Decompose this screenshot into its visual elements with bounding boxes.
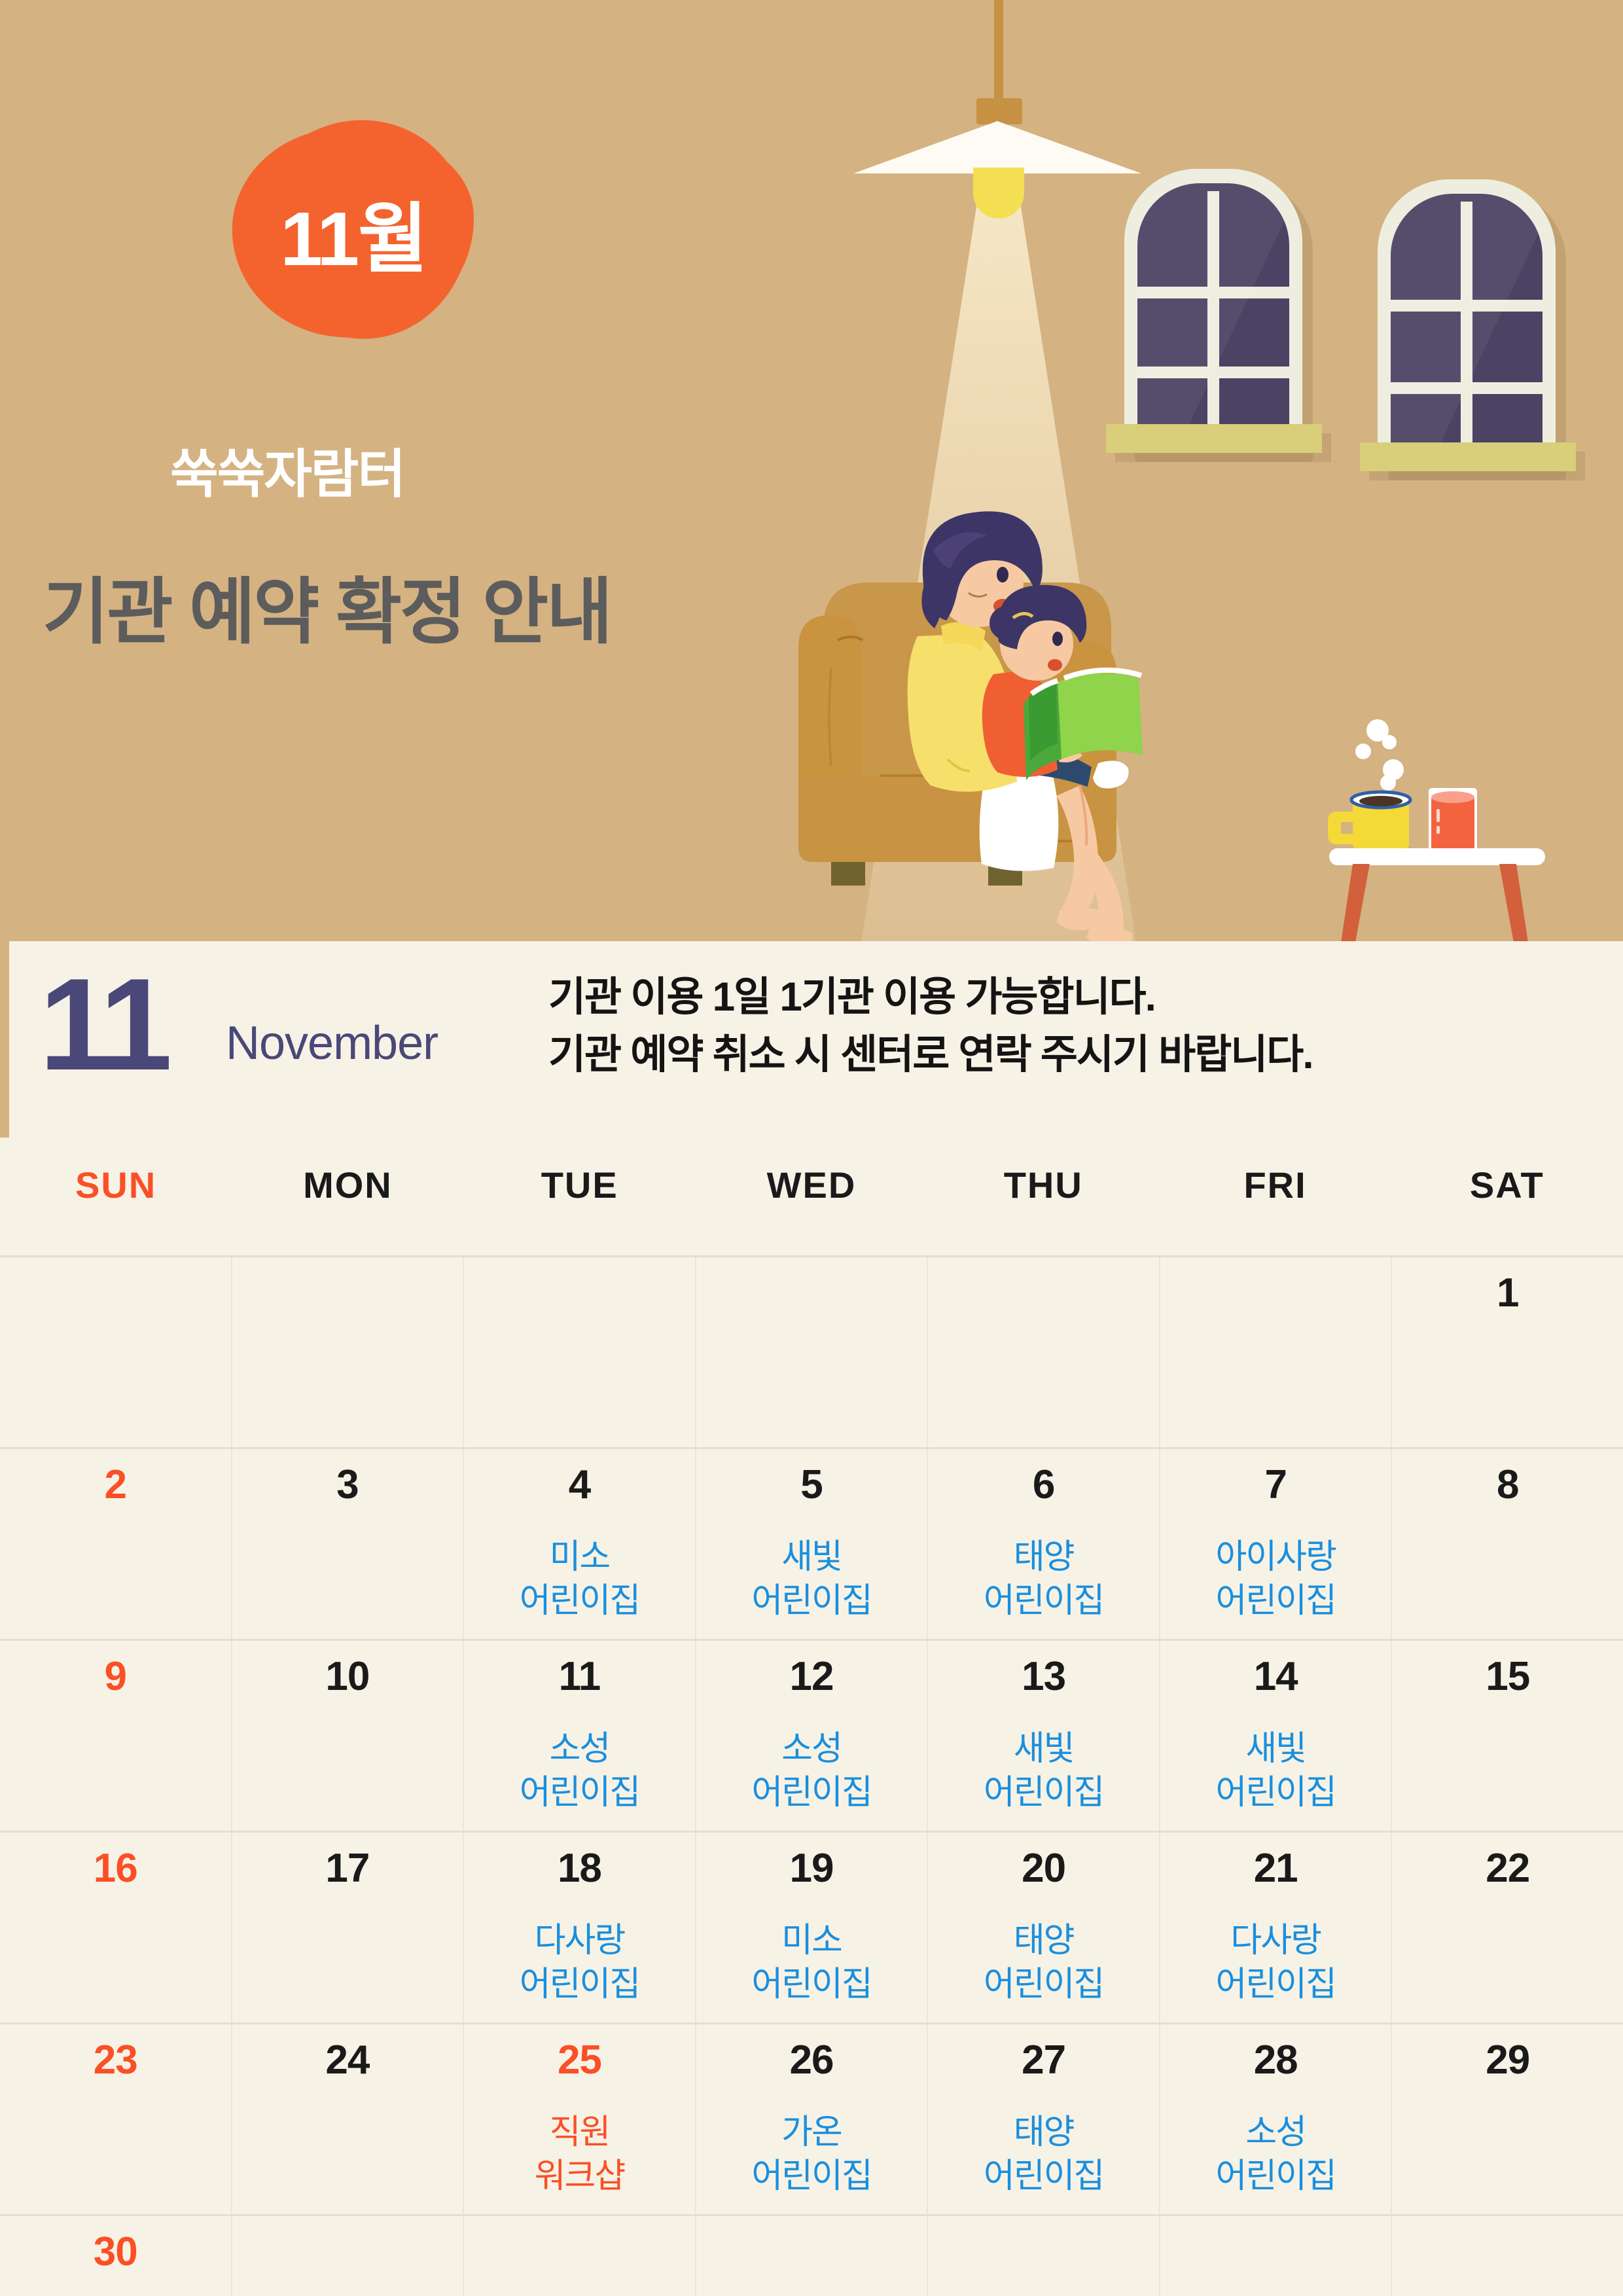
calendar-day-cell[interactable]: 17 [231, 1833, 463, 2022]
event-line: 새빛 [696, 1535, 927, 1579]
event-line: 아이사랑 [1160, 1535, 1391, 1579]
event-line: 소성 [464, 1727, 695, 1771]
event-line: 다사랑 [1160, 1919, 1391, 1963]
day-number: 27 [928, 2040, 1159, 2081]
calendar-day-cell[interactable]: 30 [0, 2216, 231, 2296]
event-line: 다사랑 [464, 1919, 695, 1963]
event-line: 어린이집 [696, 1963, 927, 2007]
window-left-sill [1106, 424, 1322, 453]
day-event-label: 소성어린이집 [696, 1727, 927, 1814]
calendar-day-cell[interactable]: 12소성어린이집 [695, 1641, 927, 1831]
calendar-day-cell[interactable]: 20태양어린이집 [927, 1833, 1159, 2022]
event-line: 어린이집 [696, 2155, 927, 2198]
calendar-empty-cell [927, 2216, 1159, 2296]
event-line: 미소 [464, 1535, 695, 1579]
event-line: 어린이집 [464, 1771, 695, 1815]
day-number: 21 [1160, 1848, 1391, 1889]
day-event-label: 새빛어린이집 [696, 1535, 927, 1623]
day-event-label: 미소어린이집 [464, 1535, 695, 1623]
event-line: 어린이집 [1160, 2155, 1391, 2198]
day-number: 24 [232, 2040, 463, 2081]
side-table-with-drinks-illustration [1293, 713, 1574, 941]
day-event-label: 소성어린이집 [464, 1727, 695, 1814]
day-number: 17 [232, 1848, 463, 1889]
lamp-cord-icon [994, 0, 1003, 105]
brand-name: 쑥쑥자람터 [170, 432, 628, 508]
page-title: 기관 예약 확정 안내 [43, 553, 828, 658]
calendar-day-cell[interactable]: 14새빛어린이집 [1159, 1641, 1391, 1831]
day-number: 12 [696, 1657, 927, 1697]
calendar-empty-cell [1159, 2216, 1391, 2296]
calendar-week-row: 91011소성어린이집12소성어린이집13새빛어린이집14새빛어린이집15 [0, 1639, 1623, 1831]
event-line: 어린이집 [928, 2155, 1159, 2198]
lamp-cap-icon [976, 98, 1022, 124]
calendar-day-cell[interactable]: 8 [1391, 1449, 1623, 1639]
event-line: 미소 [696, 1919, 927, 1963]
month-name-english: November [226, 1016, 438, 1070]
calendar-week-row: 30 [0, 2214, 1623, 2296]
calendar-day-cell[interactable]: 2 [0, 1449, 231, 1639]
day-number: 30 [0, 2232, 231, 2272]
day-number: 16 [0, 1848, 231, 1889]
event-line: 새빛 [928, 1727, 1159, 1771]
calendar-day-cell[interactable]: 29 [1391, 2024, 1623, 2214]
event-line: 어린이집 [696, 1771, 927, 1815]
weekday-tue: TUE [464, 1164, 696, 1249]
event-line: 어린이집 [928, 1771, 1159, 1815]
day-number: 7 [1160, 1465, 1391, 1505]
calendar-empty-cell [927, 1257, 1159, 1447]
day-number: 8 [1392, 1465, 1623, 1505]
day-event-label: 태양어린이집 [928, 1919, 1159, 2006]
calendar-day-cell[interactable]: 26가온어린이집 [695, 2024, 927, 2214]
day-number: 3 [232, 1465, 463, 1505]
event-line: 태양 [928, 2111, 1159, 2155]
day-number: 15 [1392, 1657, 1623, 1697]
calendar-empty-cell [231, 2216, 463, 2296]
day-event-label: 태양어린이집 [928, 2111, 1159, 2198]
window-right-icon [1378, 179, 1556, 470]
calendar-day-cell[interactable]: 28소성어린이집 [1159, 2024, 1391, 2214]
calendar-day-cell[interactable]: 24 [231, 2024, 463, 2214]
calendar-day-cell[interactable]: 19미소어린이집 [695, 1833, 927, 2022]
calendar-section: 11 November 기관 이용 1일 1기관 이용 가능합니다. 기관 예약… [0, 941, 1623, 2296]
weekday-wed: WED [696, 1164, 927, 1249]
mother-and-child-reading-illustration [772, 478, 1270, 941]
calendar-day-cell[interactable]: 13새빛어린이집 [927, 1641, 1159, 1831]
calendar-day-cell[interactable]: 7아이사랑어린이집 [1159, 1449, 1391, 1639]
calendar-day-cell[interactable]: 10 [231, 1641, 463, 1831]
day-event-label: 가온어린이집 [696, 2111, 927, 2198]
day-number: 1 [1392, 1273, 1623, 1314]
weekday-sat: SAT [1391, 1164, 1623, 1249]
day-number: 6 [928, 1465, 1159, 1505]
event-line: 어린이집 [1160, 1963, 1391, 2007]
day-number: 2 [0, 1465, 231, 1505]
event-line: 태양 [928, 1535, 1159, 1579]
calendar-empty-cell [231, 1257, 463, 1447]
day-event-label: 새빛어린이집 [1160, 1727, 1391, 1814]
calendar-day-cell[interactable]: 4미소어린이집 [463, 1449, 695, 1639]
weekday-sun: SUN [0, 1164, 232, 1249]
calendar-grid: 1234미소어린이집5새빛어린이집6태양어린이집7아이사랑어린이집891011소… [0, 1255, 1623, 2296]
event-line: 어린이집 [928, 1963, 1159, 2007]
poster-page: 11월 쑥쑥자람터 기관 예약 확정 안내 11 November 기관 이용 … [0, 0, 1623, 2296]
calendar-day-cell[interactable]: 11소성어린이집 [463, 1641, 695, 1831]
lamp-bulb-icon [973, 168, 1024, 219]
day-event-label: 미소어린이집 [696, 1919, 927, 2006]
event-line: 워크샵 [464, 2155, 695, 2198]
event-line: 직원 [464, 2111, 695, 2155]
calendar-day-cell[interactable]: 9 [0, 1641, 231, 1831]
event-line: 태양 [928, 1919, 1159, 1963]
day-number: 14 [1160, 1657, 1391, 1697]
day-event-label: 다사랑어린이집 [464, 1919, 695, 2006]
day-number: 19 [696, 1848, 927, 1889]
event-line: 새빛 [1160, 1727, 1391, 1771]
day-number: 10 [232, 1657, 463, 1697]
day-number: 11 [464, 1657, 695, 1697]
day-event-label: 아이사랑어린이집 [1160, 1535, 1391, 1623]
calendar-week-row: 232425직원워크샵26가온어린이집27태양어린이집28소성어린이집29 [0, 2022, 1623, 2214]
calendar-day-cell[interactable]: 27태양어린이집 [927, 2024, 1159, 2214]
calendar-empty-cell [695, 2216, 927, 2296]
calendar-day-cell[interactable]: 18다사랑어린이집 [463, 1833, 695, 2022]
calendar-empty-cell [0, 1257, 231, 1447]
event-line: 어린이집 [1160, 1579, 1391, 1623]
weekday-mon: MON [232, 1164, 463, 1249]
day-event-label: 다사랑어린이집 [1160, 1919, 1391, 2006]
event-line: 어린이집 [928, 1579, 1159, 1623]
day-event-label: 새빛어린이집 [928, 1727, 1159, 1814]
calendar-day-cell[interactable]: 25직원워크샵 [463, 2024, 695, 2214]
calendar-day-cell[interactable]: 1 [1391, 1257, 1623, 1447]
calendar-day-cell[interactable]: 15 [1391, 1641, 1623, 1831]
day-number: 18 [464, 1848, 695, 1889]
window-right-sill [1360, 442, 1576, 471]
event-line: 가온 [696, 2111, 927, 2155]
hero-banner: 11월 쑥쑥자람터 기관 예약 확정 안내 [0, 0, 1623, 941]
calendar-day-cell[interactable]: 23 [0, 2024, 231, 2214]
day-number: 28 [1160, 2040, 1391, 2081]
event-line: 어린이집 [464, 1579, 695, 1623]
calendar-empty-cell [463, 2216, 695, 2296]
day-number: 9 [0, 1657, 231, 1697]
day-number: 13 [928, 1657, 1159, 1697]
day-event-label: 직원워크샵 [464, 2111, 695, 2198]
calendar-week-row: 1 [0, 1255, 1623, 1447]
day-event-label: 태양어린이집 [928, 1535, 1159, 1623]
weekday-header-row: SUN MON TUE WED THU FRI SAT [0, 1164, 1623, 1249]
notice-line-2: 기관 예약 취소 시 센터로 연락 주시기 바랍니다. [548, 1026, 1569, 1084]
calendar-day-cell[interactable]: 6태양어린이집 [927, 1449, 1159, 1639]
calendar-empty-cell [1391, 2216, 1623, 2296]
event-line: 소성 [696, 1727, 927, 1771]
day-number: 5 [696, 1465, 927, 1505]
day-number: 22 [1392, 1848, 1623, 1889]
lamp-shade-icon [853, 121, 1141, 173]
event-line: 어린이집 [1160, 1771, 1391, 1815]
event-line: 어린이집 [696, 1579, 927, 1623]
day-number: 20 [928, 1848, 1159, 1889]
calendar-day-cell[interactable]: 5새빛어린이집 [695, 1449, 927, 1639]
weekday-fri: FRI [1159, 1164, 1391, 1249]
calendar-week-row: 234미소어린이집5새빛어린이집6태양어린이집7아이사랑어린이집8 [0, 1447, 1623, 1639]
month-badge: 11월 [232, 128, 474, 337]
day-event-label: 소성어린이집 [1160, 2111, 1391, 2198]
month-badge-label: 11월 [232, 128, 474, 337]
notice-block: 기관 이용 1일 1기관 이용 가능합니다. 기관 예약 취소 시 센터로 연락… [548, 969, 1569, 1084]
event-line: 소성 [1160, 2111, 1391, 2155]
event-line: 어린이집 [464, 1963, 695, 2007]
window-left-icon [1124, 169, 1302, 452]
weekday-thu: THU [927, 1164, 1159, 1249]
month-number: 11 [39, 960, 167, 1090]
notice-line-1: 기관 이용 1일 1기관 이용 가능합니다. [548, 969, 1569, 1026]
calendar-empty-cell [463, 1257, 695, 1447]
day-number: 25 [464, 2040, 695, 2081]
day-number: 23 [0, 2040, 231, 2081]
calendar-empty-cell [695, 1257, 927, 1447]
calendar-day-cell[interactable]: 16 [0, 1833, 231, 2022]
day-number: 4 [464, 1465, 695, 1505]
calendar-empty-cell [1159, 1257, 1391, 1447]
calendar-day-cell[interactable]: 22 [1391, 1833, 1623, 2022]
calendar-week-row: 161718다사랑어린이집19미소어린이집20태양어린이집21다사랑어린이집22 [0, 1831, 1623, 2022]
calendar-day-cell[interactable]: 21다사랑어린이집 [1159, 1833, 1391, 2022]
calendar-header: 11 November 기관 이용 1일 1기관 이용 가능합니다. 기관 예약… [0, 941, 1623, 1144]
day-number: 26 [696, 2040, 927, 2081]
day-number: 29 [1392, 2040, 1623, 2081]
calendar-day-cell[interactable]: 3 [231, 1449, 463, 1639]
